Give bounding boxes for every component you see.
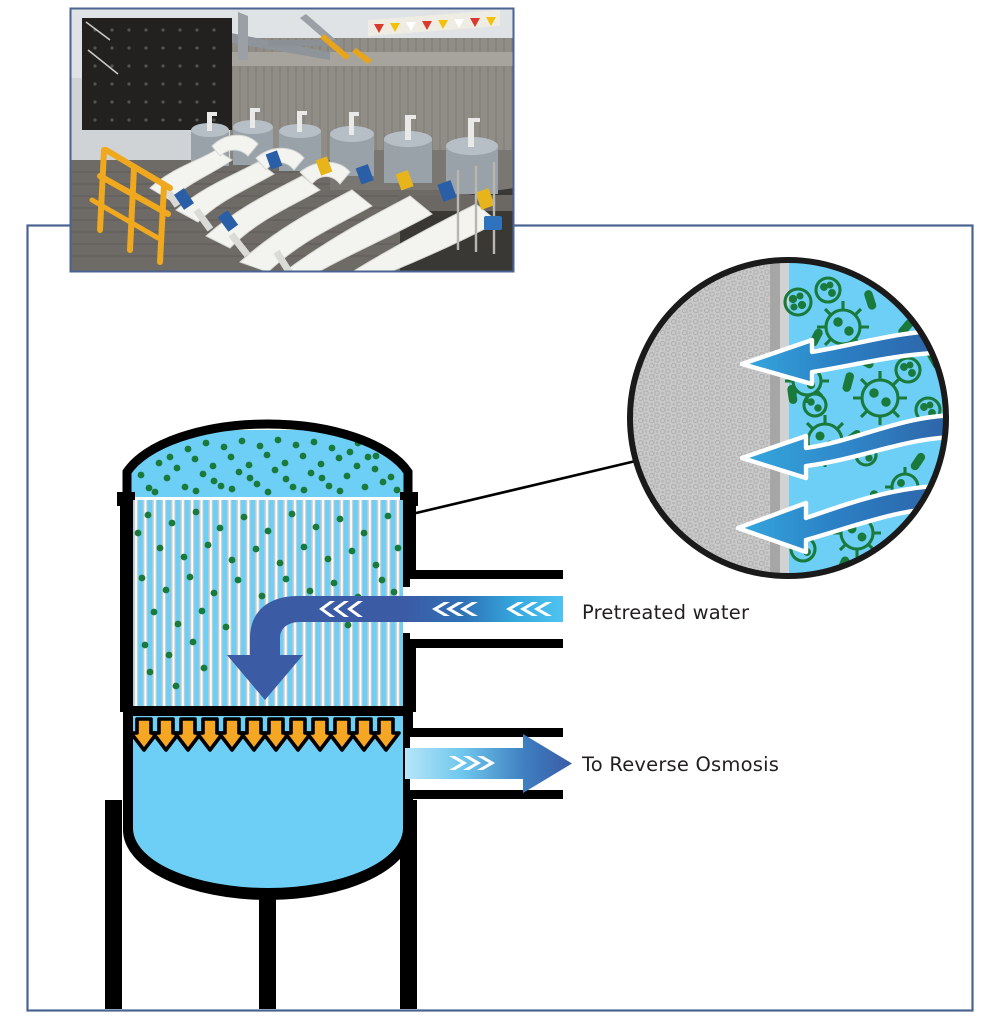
pressure-vessel (105, 424, 418, 1009)
outlet-nozzle (405, 728, 572, 799)
figure-canvas: Pretreated water To Reverse Osmosis (0, 0, 1000, 1024)
label-pretreated-water: Pretreated water (582, 601, 750, 624)
inlet-nozzle (405, 570, 563, 648)
membrane-detail-inset (620, 250, 960, 590)
label-to-reverse-osmosis: To Reverse Osmosis (581, 753, 779, 776)
plant-photograph (70, 8, 514, 276)
